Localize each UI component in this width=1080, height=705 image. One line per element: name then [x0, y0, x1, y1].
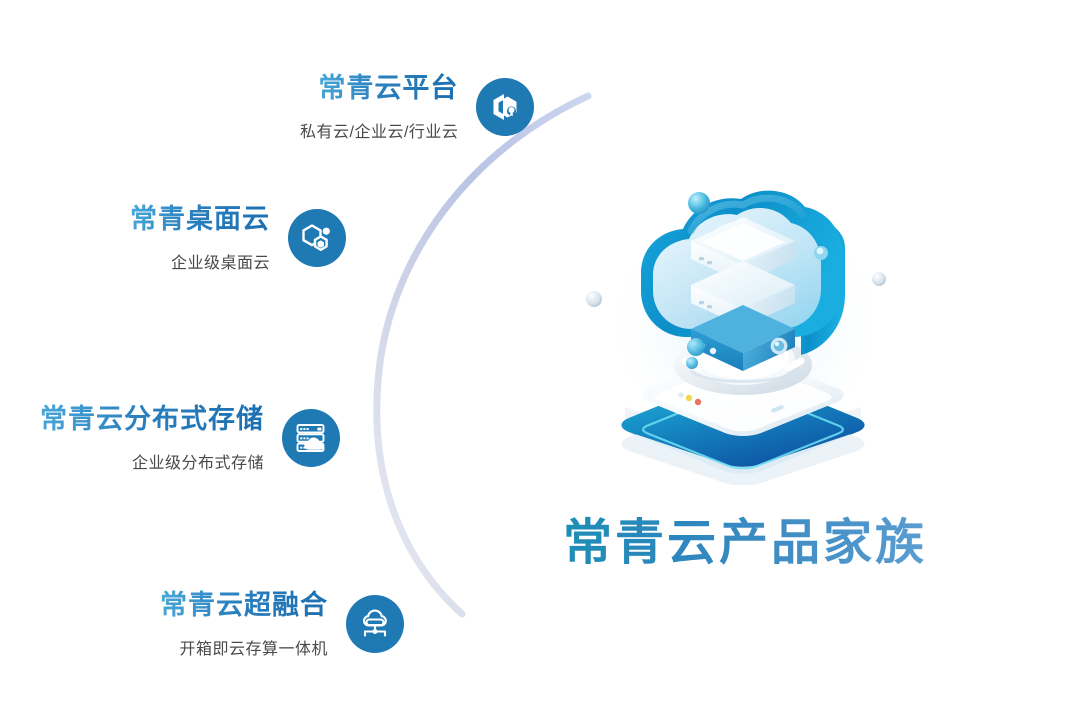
- node-hci[interactable]: 常青云超融合 开箱即云存算一体机: [160, 589, 404, 659]
- cloud-server-platform-illustration: [565, 175, 920, 485]
- bubble: [872, 272, 886, 286]
- cloud-hexagon-icon[interactable]: [476, 78, 534, 136]
- node-hci-subtitle: 开箱即云存算一体机: [179, 635, 328, 659]
- node-hci-title: 常青云超融合: [160, 589, 328, 623]
- node-platform-subtitle: 私有云/企业云/行业云: [300, 118, 458, 142]
- node-hci-labels: 常青云超融合 开箱即云存算一体机: [160, 589, 328, 659]
- bubble: [586, 291, 602, 307]
- server-stack: [691, 217, 795, 371]
- hexagon-cluster-icon[interactable]: [288, 209, 346, 267]
- server-cloud-icon[interactable]: [282, 409, 340, 467]
- bubble: [688, 192, 710, 214]
- node-desktop-subtitle: 企业级桌面云: [171, 249, 270, 273]
- node-desktop[interactable]: 常青桌面云 企业级桌面云: [130, 203, 346, 273]
- bubble: [686, 357, 698, 369]
- node-desktop-labels: 常青桌面云 企业级桌面云: [130, 203, 270, 273]
- page-title: 常青云产品家族: [563, 503, 927, 574]
- node-platform-labels: 常青云平台 私有云/企业云/行业云: [300, 72, 458, 142]
- node-storage-subtitle: 企业级分布式存储: [132, 449, 264, 473]
- infographic-canvas: 常青云平台 私有云/企业云/行业云 常青桌面云 企业级桌面云: [0, 0, 1080, 705]
- node-platform-title: 常青云平台: [318, 72, 458, 106]
- cloud-network-icon[interactable]: [346, 595, 404, 653]
- node-storage[interactable]: 常青云分布式存储 企业级分布式存储: [40, 403, 340, 473]
- node-desktop-title: 常青桌面云: [130, 203, 270, 237]
- node-storage-title: 常青云分布式存储: [40, 403, 264, 437]
- node-platform[interactable]: 常青云平台 私有云/企业云/行业云: [300, 72, 534, 142]
- bubble: [687, 338, 705, 356]
- node-storage-labels: 常青云分布式存储 企业级分布式存储: [40, 403, 264, 473]
